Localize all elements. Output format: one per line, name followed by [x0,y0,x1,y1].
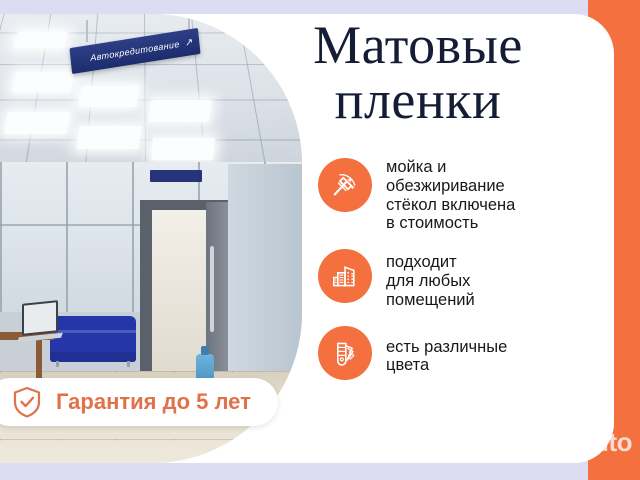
feature-item-premises: подходит для любых помещений [318,249,578,309]
feature-item-colors: есть различные цвета [318,326,578,380]
arrow-icon: ↗ [184,36,193,48]
guarantee-badge-label: Гарантия до 5 лет [56,389,251,415]
sofa-leg [56,361,59,367]
sign-support-rod [86,20,88,42]
blue-sofa [50,316,136,362]
sofa-leg [127,361,130,367]
feature-label: подходит для любых помещений [386,249,475,309]
laptop [22,300,58,336]
shield-check-icon [12,386,42,418]
guarantee-badge: Гарантия до 5 лет [0,378,278,426]
door-handle [210,246,214,332]
feature-label: мойка и обезжиривание стёкол включена в … [386,158,515,233]
ceiling-light [14,32,69,48]
ceiling-light [78,86,140,107]
ceiling-light [76,126,141,149]
ceiling-light [12,72,75,92]
headline-line-1: Матовые [313,15,523,75]
squeegee-sparkle-icon [318,158,372,212]
color-swatch-fan-icon [318,326,372,380]
feature-list: мойка и обезжиривание стёкол включена в … [318,158,578,396]
ad-canvas: Автокредитование ↗ [0,0,640,480]
feature-item-cleaning: мойка и обезжиривание стёкол включена в … [318,158,578,233]
ceiling-light [4,112,70,134]
buildings-icon [318,249,372,303]
page-title: Матовые пленки [258,18,578,128]
ceiling-light [149,100,212,122]
feature-label: есть различные цвета [386,326,507,376]
wall-sign [150,170,202,182]
headline-line-2: пленки [258,73,578,128]
ceiling-light [151,138,215,160]
right-wall [228,164,302,404]
